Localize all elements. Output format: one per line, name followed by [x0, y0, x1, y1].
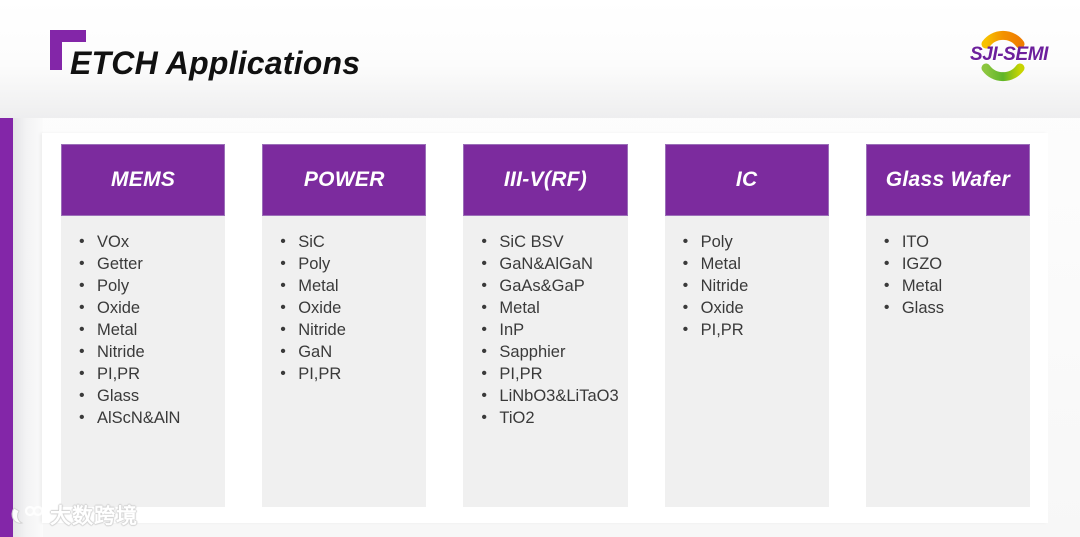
list-item: Poly	[276, 254, 420, 276]
list-item: PI,PR	[75, 364, 219, 386]
list-item: Oxide	[276, 298, 420, 320]
list-item: Oxide	[75, 298, 219, 320]
column-body-iii-v-rf: SiC BSV GaN&AlGaN GaAs&GaP Metal InP Sap…	[463, 216, 627, 507]
list-item: Metal	[880, 276, 1024, 298]
list-item: VOx	[75, 232, 219, 254]
column-body-power: SiC Poly Metal Oxide Nitride GaN PI,PR	[262, 216, 426, 507]
column-body-ic: Poly Metal Nitride Oxide PI,PR	[665, 216, 829, 507]
list-item: Oxide	[679, 298, 823, 320]
logo-text: SJI-SEMI	[954, 44, 1064, 66]
list-item: GaN	[276, 342, 420, 364]
list-item: AlScN&AlN	[75, 408, 219, 430]
material-list-iii-v-rf: SiC BSV GaN&AlGaN GaAs&GaP Metal InP Sap…	[477, 232, 621, 430]
page-title: ETCH Applications	[70, 45, 360, 82]
column-header-mems: MEMS	[61, 144, 225, 216]
list-item: Nitride	[75, 342, 219, 364]
list-item: Sapphier	[477, 342, 621, 364]
list-item: Glass	[75, 386, 219, 408]
list-item: Metal	[679, 254, 823, 276]
material-list-mems: VOx Getter Poly Oxide Metal Nitride PI,P…	[75, 232, 219, 430]
list-item: Metal	[75, 320, 219, 342]
column-mems: MEMS VOx Getter Poly Oxide Metal Nitride…	[61, 144, 225, 507]
list-item: Nitride	[276, 320, 420, 342]
column-header-power: POWER	[262, 144, 426, 216]
list-item: InP	[477, 320, 621, 342]
list-item: PI,PR	[477, 364, 621, 386]
list-item: Getter	[75, 254, 219, 276]
list-item: SiC	[276, 232, 420, 254]
list-item: PI,PR	[276, 364, 420, 386]
list-item: TiO2	[477, 408, 621, 430]
material-list-glass-wafer: ITO IGZO Metal Glass	[880, 232, 1024, 320]
column-ic: IC Poly Metal Nitride Oxide PI,PR	[665, 144, 829, 507]
list-item: Metal	[477, 298, 621, 320]
list-item: Glass	[880, 298, 1024, 320]
column-header-glass-wafer: Glass Wafer	[866, 144, 1030, 216]
column-body-mems: VOx Getter Poly Oxide Metal Nitride PI,P…	[61, 216, 225, 507]
column-header-ic: IC	[665, 144, 829, 216]
list-item: IGZO	[880, 254, 1024, 276]
column-header-iii-v-rf: III-V(RF)	[463, 144, 627, 216]
column-glass-wafer: Glass Wafer ITO IGZO Metal Glass	[866, 144, 1030, 507]
list-item: PI,PR	[679, 320, 823, 342]
list-item: GaN&AlGaN	[477, 254, 621, 276]
material-list-power: SiC Poly Metal Oxide Nitride GaN PI,PR	[276, 232, 420, 386]
list-item: SiC BSV	[477, 232, 621, 254]
list-item: Nitride	[679, 276, 823, 298]
material-list-ic: Poly Metal Nitride Oxide PI,PR	[679, 232, 823, 342]
content-card: MEMS VOx Getter Poly Oxide Metal Nitride…	[42, 133, 1048, 523]
list-item: LiNbO3&LiTaO3	[477, 386, 621, 408]
slide-canvas: ETCH Applications	[0, 0, 1080, 537]
company-logo: SJI-SEMI	[954, 28, 1064, 84]
application-columns: MEMS VOx Getter Poly Oxide Metal Nitride…	[42, 133, 1048, 523]
list-item: Poly	[679, 232, 823, 254]
column-power: POWER SiC Poly Metal Oxide Nitride GaN P…	[262, 144, 426, 507]
list-item: ITO	[880, 232, 1024, 254]
slide-header: ETCH Applications	[0, 0, 1080, 118]
list-item: GaAs&GaP	[477, 276, 621, 298]
list-item: Metal	[276, 276, 420, 298]
column-body-glass-wafer: ITO IGZO Metal Glass	[866, 216, 1030, 507]
column-iii-v-rf: III-V(RF) SiC BSV GaN&AlGaN GaAs&GaP Met…	[463, 144, 627, 507]
list-item: Poly	[75, 276, 219, 298]
